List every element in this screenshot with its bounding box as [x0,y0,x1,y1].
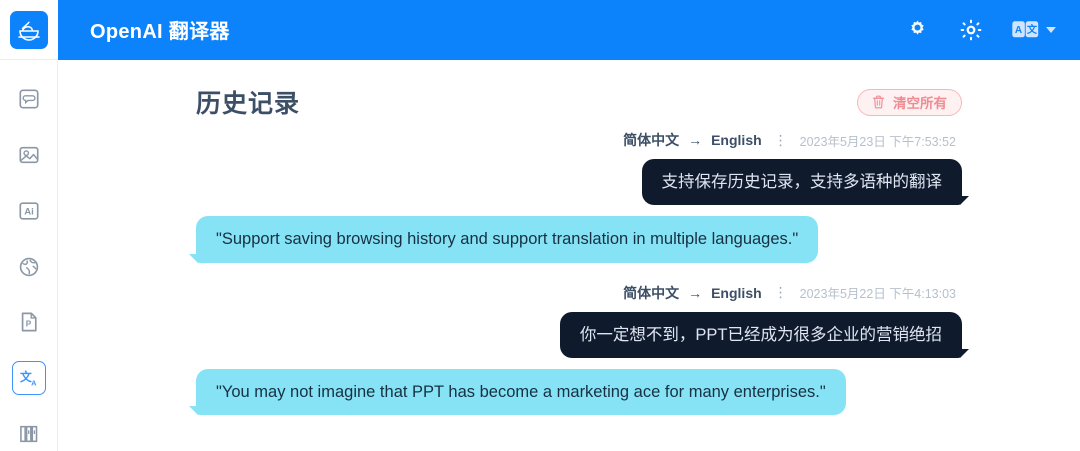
books-icon [18,423,40,445]
source-row: 支持保存历史记录，支持多语种的翻译 [196,159,962,216]
top-bar-actions: A 文 [904,17,1056,43]
language-pair: 简体中文 → English [623,130,762,150]
translation-row: "You may not imagine that PPT has become… [196,369,962,421]
svg-text:A: A [31,378,37,387]
translation-row: "Support saving browsing history and sup… [196,216,962,268]
top-bar-blue-region: OpenAI 翻译器 [58,0,1080,60]
target-language: English [711,285,762,301]
sidebar-item-translate[interactable]: 文 A [12,361,46,395]
sidebar-item-globe[interactable] [12,250,46,284]
source-bubble[interactable]: 你一定想不到，PPT已经成为很多企业的营销绝招 [560,312,962,358]
clear-all-label: 清空所有 [893,92,947,112]
logo-cell [0,0,58,60]
app-window: OpenAI 翻译器 [0,0,1080,451]
entry-meta: 简体中文 → English ⋮ 2023年5月22日 下午4:13:03 [196,283,962,303]
top-bar: OpenAI 翻译器 [0,0,1080,60]
svg-text:文: 文 [20,370,32,384]
history-list: 简体中文 → English ⋮ 2023年5月23日 下午7:53:52 支持… [58,122,1080,421]
translate-ab-icon: A 文 [1012,21,1039,38]
entry-timestamp: 2023年5月22日 下午4:13:03 [800,283,956,302]
sun-gear-icon[interactable] [958,17,984,43]
language-switch-button[interactable]: A 文 [1012,21,1056,38]
gear-icon[interactable] [904,17,930,43]
entry-meta: 简体中文 → English ⋮ 2023年5月23日 下午7:53:52 [196,130,962,150]
source-row: 你一定想不到，PPT已经成为很多企业的营销绝招 [196,312,962,369]
source-language: 简体中文 [623,283,679,303]
vertical-dots-icon[interactable]: ⋮ [772,284,790,301]
arrow-right-icon: → [688,285,702,301]
target-language: English [711,132,762,148]
history-entry: 简体中文 → English ⋮ 2023年5月23日 下午7:53:52 支持… [196,130,962,269]
rice-bowl-logo-icon[interactable] [10,11,48,49]
translation-bubble[interactable]: "Support saving browsing history and sup… [196,216,818,262]
page-header: 历史记录 清空所有 [58,60,1080,122]
sidebar-item-ai[interactable]: Ai [12,194,46,228]
svg-text:Ai: Ai [24,206,34,217]
svg-text:P: P [25,320,31,329]
svg-text:文: 文 [1027,23,1038,36]
app-title: OpenAI 翻译器 [90,15,230,44]
history-entry: 简体中文 → English ⋮ 2023年5月22日 下午4:13:03 你一… [196,283,962,422]
sidebar-item-image[interactable] [12,138,46,172]
image-person-icon [18,144,40,166]
translation-bubble[interactable]: "You may not imagine that PPT has become… [196,369,846,415]
chevron-down-icon [1046,27,1056,33]
ai-badge-icon: Ai [18,200,40,222]
svg-text:A: A [1015,25,1022,36]
entry-timestamp: 2023年5月23日 下午7:53:52 [800,131,956,150]
source-bubble[interactable]: 支持保存历史记录，支持多语种的翻译 [642,159,963,205]
source-language: 简体中文 [623,130,679,150]
main-content: 历史记录 清空所有 简体中文 → Engli [58,60,1080,451]
clear-all-button[interactable]: 清空所有 [857,89,962,116]
trash-icon [872,95,885,109]
arrow-right-icon: → [688,132,702,148]
chat-box-icon [18,88,40,110]
sidebar-item-ppt[interactable]: P [12,305,46,339]
vertical-dots-icon[interactable]: ⋮ [772,132,790,149]
language-pair: 简体中文 → English [623,283,762,303]
sidebar-item-chat[interactable] [12,82,46,116]
page-title: 历史记录 [196,84,300,120]
sidebar: Ai P 文 A [0,60,58,451]
ppt-file-icon: P [18,311,40,333]
sidebar-item-library[interactable] [12,417,46,451]
globe-icon [18,256,40,278]
translate-icon: 文 A [18,368,39,389]
